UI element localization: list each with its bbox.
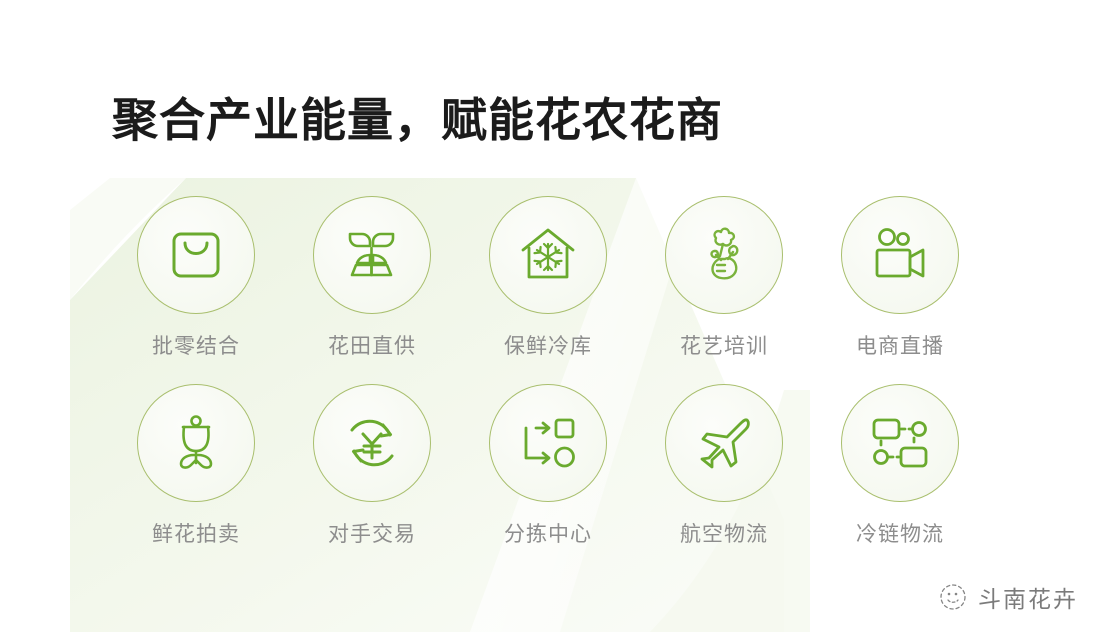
cold-storage-house-icon	[517, 224, 579, 286]
feature-item-cold-storage[interactable]: 保鲜冷库	[460, 196, 636, 360]
icon-circle	[137, 384, 255, 502]
feature-item-cold-chain-logistics[interactable]: 冷链物流	[812, 384, 988, 548]
page-title: 聚合产业能量，赋能花农花商	[112, 93, 723, 148]
feature-label: 分拣中心	[504, 518, 592, 548]
feature-label: 批零结合	[152, 330, 240, 360]
icon-circle	[665, 196, 783, 314]
feature-label: 电商直播	[856, 330, 944, 360]
airplane-icon	[694, 414, 754, 472]
wechat-logo-icon	[938, 582, 968, 612]
feature-item-wholesale-retail[interactable]: 批零结合	[108, 196, 284, 360]
feature-label: 对手交易	[328, 518, 416, 548]
icon-circle	[313, 196, 431, 314]
yuan-exchange-icon	[342, 413, 402, 473]
shopping-bag-icon	[167, 226, 225, 284]
watermark-text: 斗南花卉	[978, 580, 1078, 614]
icon-circle	[313, 384, 431, 502]
feature-label: 航空物流	[680, 518, 768, 548]
icon-circle	[489, 196, 607, 314]
flower-bouquet-icon	[695, 226, 753, 284]
watermark: 斗南花卉	[938, 580, 1078, 614]
feature-label: 鲜花拍卖	[152, 518, 240, 548]
feature-label: 花艺培训	[680, 330, 768, 360]
feature-label: 冷链物流	[856, 518, 944, 548]
video-camera-icon	[870, 226, 930, 284]
feature-label: 保鲜冷库	[504, 330, 592, 360]
feature-item-flower-auction[interactable]: 鲜花拍卖	[108, 384, 284, 548]
feature-item-floral-training[interactable]: 花艺培训	[636, 196, 812, 360]
icon-circle	[841, 384, 959, 502]
icon-circle	[665, 384, 783, 502]
feature-item-counterparty-trading[interactable]: 对手交易	[284, 384, 460, 548]
feature-item-sorting-center[interactable]: 分拣中心	[460, 384, 636, 548]
feature-item-air-logistics[interactable]: 航空物流	[636, 384, 812, 548]
icon-circle	[841, 196, 959, 314]
network-nodes-icon	[869, 415, 931, 471]
sorting-arrows-icon	[518, 415, 578, 471]
feature-label: 花田直供	[328, 330, 416, 360]
icon-circle	[137, 196, 255, 314]
feature-grid: 批零结合 花田直供	[108, 196, 988, 548]
tulip-auction-icon	[168, 413, 224, 473]
sprout-field-icon	[342, 225, 402, 285]
feature-item-field-direct-supply[interactable]: 花田直供	[284, 196, 460, 360]
feature-item-ecommerce-livestream[interactable]: 电商直播	[812, 196, 988, 360]
icon-circle	[489, 384, 607, 502]
